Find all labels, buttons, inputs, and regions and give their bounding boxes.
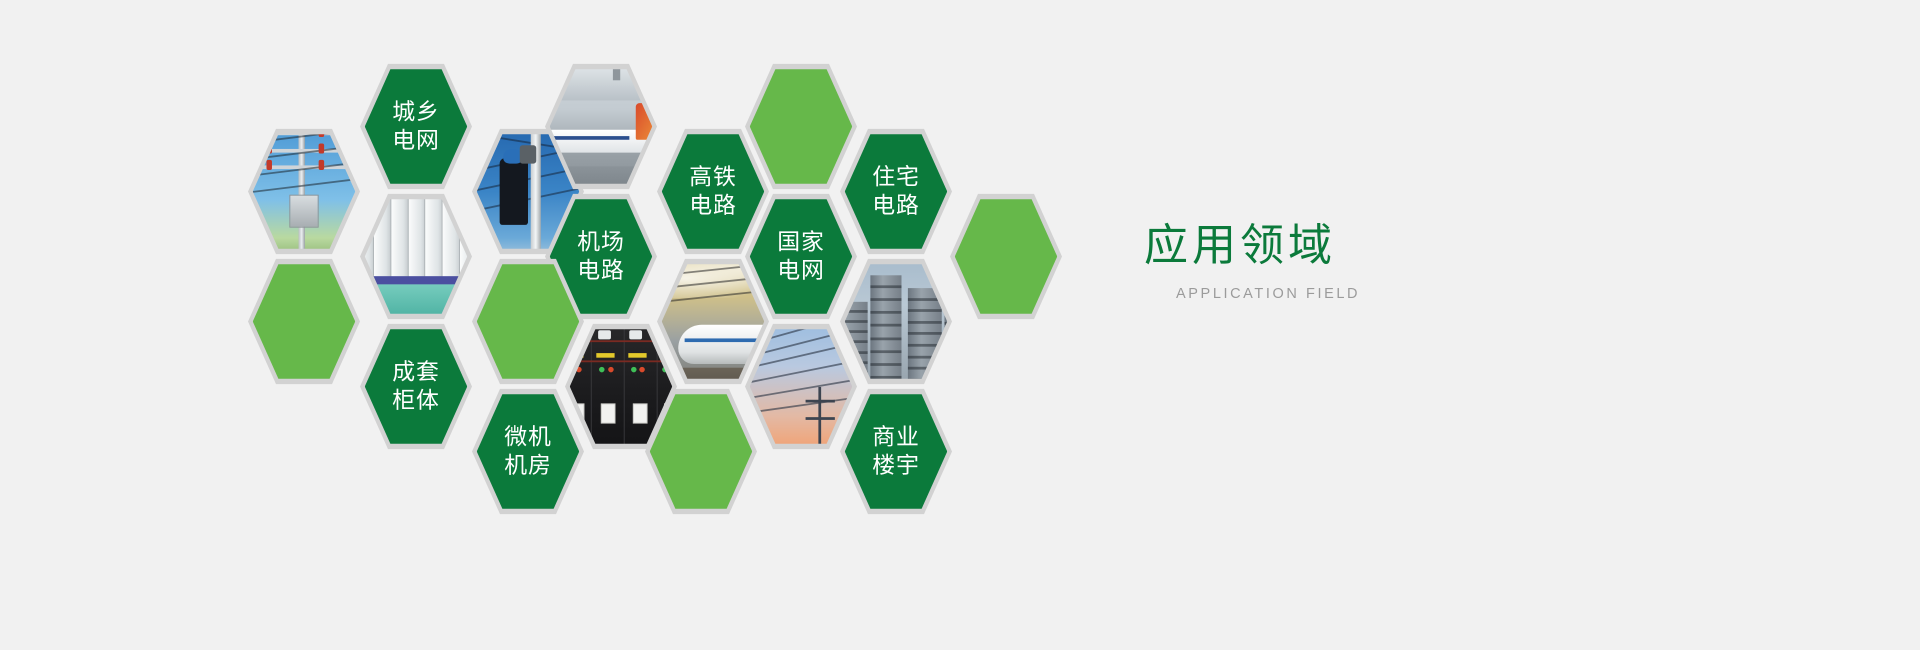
hexagon-plain-left[interactable] bbox=[248, 257, 360, 386]
hexagon-plain-top-right[interactable] bbox=[745, 62, 857, 191]
hexagon-high-speed-rail[interactable]: 高铁电路 bbox=[657, 127, 769, 256]
hexagon-plain-far-right[interactable] bbox=[950, 192, 1062, 321]
hexagon-commercial-building[interactable]: 商业楼宇 bbox=[840, 387, 952, 516]
hexagon-inner bbox=[955, 197, 1057, 315]
hexagon-label-line: 机房 bbox=[504, 452, 552, 480]
hexagon-computer-room[interactable]: 微机机房 bbox=[472, 387, 584, 516]
hexagon-residential-circuit[interactable]: 住宅电路 bbox=[840, 127, 952, 256]
hexagon-switchgear-row-photo[interactable] bbox=[360, 192, 472, 321]
hexagon-inner bbox=[650, 392, 752, 510]
hexagon-label: 城乡电网 bbox=[392, 99, 440, 155]
power-lines-sunset-photo bbox=[750, 327, 852, 445]
hexagon-sunset-lines-photo[interactable] bbox=[745, 322, 857, 451]
hexagon-label: 成套柜体 bbox=[392, 359, 440, 415]
hexagon-inner: 成套柜体 bbox=[365, 327, 467, 445]
hexagon-label-line: 柜体 bbox=[392, 387, 440, 415]
hexagon-label-line: 微机 bbox=[504, 424, 552, 452]
airport-apron-aircraft-photo bbox=[550, 67, 652, 185]
hexagon-train-photo[interactable] bbox=[657, 257, 769, 386]
hexagon-urban-rural-grid[interactable]: 城乡电网 bbox=[360, 62, 472, 191]
hexagon-label-line: 成套 bbox=[392, 359, 440, 387]
utility-pole-transformer-photo bbox=[253, 132, 355, 250]
hexagon-inner: 微机机房 bbox=[477, 392, 579, 510]
hexagon-state-grid[interactable]: 国家电网 bbox=[745, 192, 857, 321]
hexagon-building-photo[interactable] bbox=[840, 257, 952, 386]
hexagon-label-line: 电网 bbox=[777, 257, 825, 285]
hexagon-inner: 高铁电路 bbox=[662, 132, 764, 250]
hexagon-label-line: 电路 bbox=[689, 192, 737, 220]
hexagon-label-line: 机场 bbox=[577, 229, 625, 257]
hexagon-inner bbox=[550, 67, 652, 185]
hexagon-label-line: 电网 bbox=[392, 127, 440, 155]
heading-block: 应用领域 APPLICATION FIELD bbox=[1144, 222, 1564, 302]
hexagon-label-line: 国家 bbox=[777, 229, 825, 257]
hexagon-inner: 城乡电网 bbox=[365, 67, 467, 185]
hexagon-label: 微机机房 bbox=[504, 424, 552, 480]
hexagon-inner bbox=[365, 197, 467, 315]
hexagon-inner bbox=[477, 262, 579, 380]
application-field-banner: 城乡电网机场电路高铁电路国家电网住宅电路成套柜体微机机房商业楼宇 应用领域 AP… bbox=[0, 0, 1920, 650]
hexagon-label-line: 城乡 bbox=[392, 99, 440, 127]
hexagon-inner: 商业楼宇 bbox=[845, 392, 947, 510]
hexagon-complete-cabinet[interactable]: 成套柜体 bbox=[360, 322, 472, 451]
hexagon-label: 商业楼宇 bbox=[872, 424, 920, 480]
hexagon-transformer-photo[interactable] bbox=[248, 127, 360, 256]
hexagon-inner bbox=[845, 262, 947, 380]
hexagon-label-line: 高铁 bbox=[689, 164, 737, 192]
hexagon-inner bbox=[662, 262, 764, 380]
hexagon-inner bbox=[253, 262, 355, 380]
apartment-towers-photo bbox=[845, 262, 947, 380]
hexagon-label-line: 电路 bbox=[872, 192, 920, 220]
hexagon-label-line: 住宅 bbox=[872, 164, 920, 192]
hexagon-label-line: 电路 bbox=[577, 257, 625, 285]
hexagon-inner: 国家电网 bbox=[750, 197, 852, 315]
page-subtitle: APPLICATION FIELD bbox=[1144, 286, 1564, 302]
hexagon-inner bbox=[750, 67, 852, 185]
hexagon-label: 住宅电路 bbox=[872, 164, 920, 220]
high-speed-train-photo bbox=[662, 262, 764, 380]
switchgear-cabinet-row-photo bbox=[365, 197, 467, 315]
hexagon-label-line: 商业 bbox=[872, 424, 920, 452]
hexagon-inner bbox=[253, 132, 355, 250]
hexagon-label: 国家电网 bbox=[777, 229, 825, 285]
hexagon-inner: 住宅电路 bbox=[845, 132, 947, 250]
hexagon-label: 机场电路 bbox=[577, 229, 625, 285]
hexagon-label: 高铁电路 bbox=[689, 164, 737, 220]
hexagon-label-line: 楼宇 bbox=[872, 452, 920, 480]
page-title: 应用领域 bbox=[1144, 222, 1564, 270]
hexagon-inner bbox=[750, 327, 852, 445]
